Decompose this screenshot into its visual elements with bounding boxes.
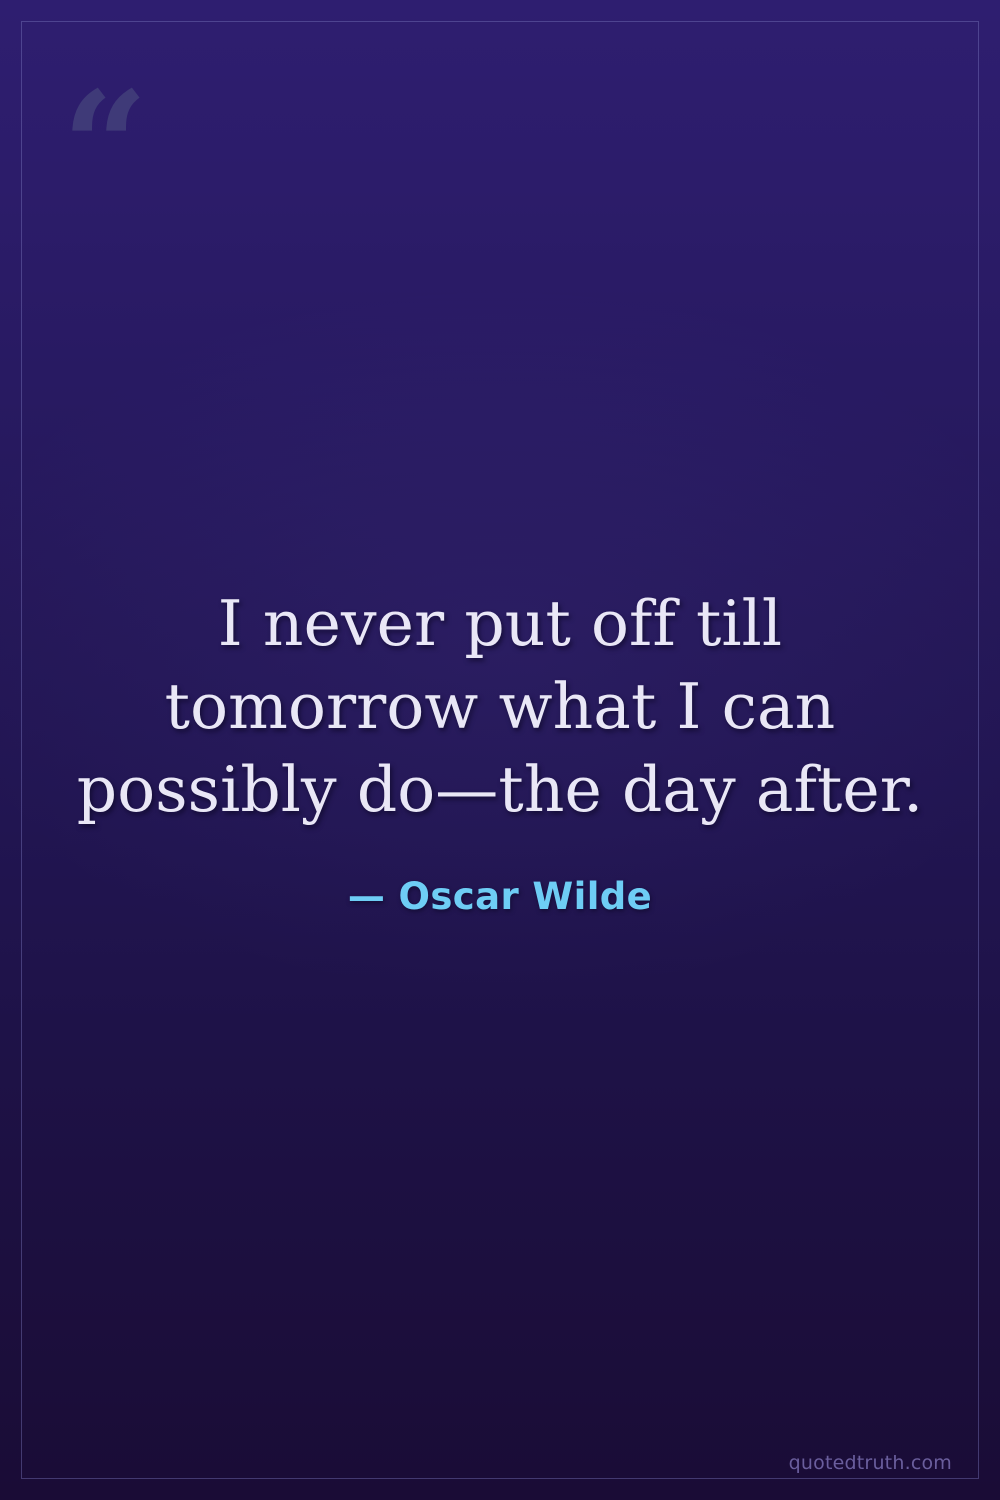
site-watermark: quotedtruth.com [789, 1452, 952, 1474]
quote-attribution: — Oscar Wilde [348, 875, 652, 918]
quote-card: “ I never put off till tomorrow what I c… [0, 0, 1000, 1500]
quote-content-block: I never put off till tomorrow what I can… [0, 0, 1000, 1500]
quote-text: I never put off till tomorrow what I can… [60, 582, 940, 831]
